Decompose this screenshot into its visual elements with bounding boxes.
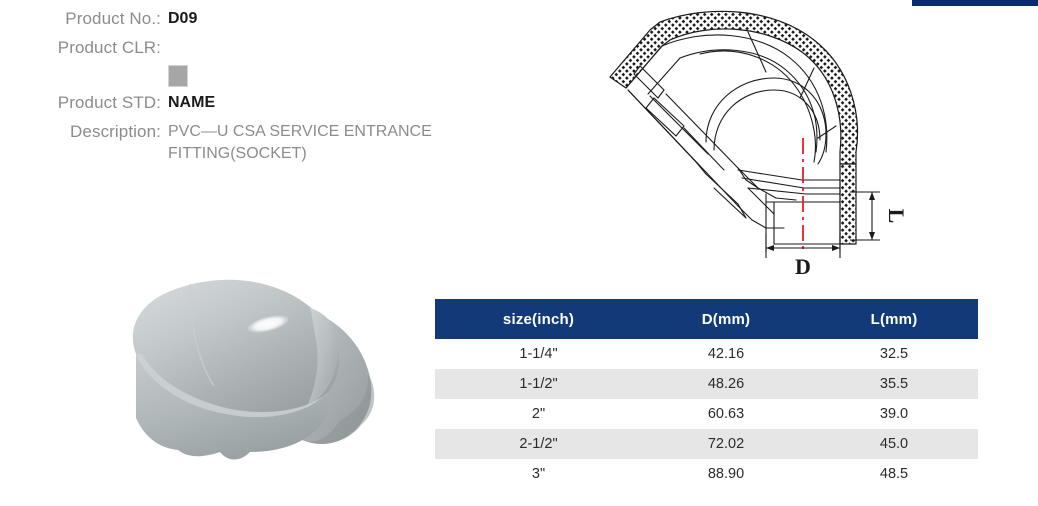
spec-row-product-std: Product STD: NAME	[0, 90, 470, 116]
dimensions-table-body: 1-1/4" 42.16 32.5 1-1/2" 48.26 35.5 2" 6…	[435, 339, 978, 489]
cell-size: 1-1/4"	[435, 339, 642, 369]
dimension-d-label: D	[795, 254, 811, 279]
table-row: 1-1/2" 48.26 35.5	[435, 369, 978, 399]
spec-label-product-std: Product STD:	[0, 90, 168, 116]
color-swatch	[168, 65, 188, 87]
cell-size: 1-1/2"	[435, 369, 642, 399]
cell-l: 39.0	[810, 399, 978, 429]
table-header-row: size(inch) D(mm) L(mm)	[435, 299, 978, 339]
dimension-l-label: L	[884, 209, 909, 224]
cell-d: 60.63	[642, 399, 810, 429]
cell-d: 72.02	[642, 429, 810, 459]
spec-label-product-clr: Product CLR:	[0, 35, 168, 61]
spec-label-product-no: Product No.:	[0, 6, 168, 32]
spec-value-product-clr	[168, 35, 470, 87]
cell-d: 48.26	[642, 369, 810, 399]
spec-row-product-clr: Product CLR:	[0, 35, 470, 87]
dimensions-table: size(inch) D(mm) L(mm) 1-1/4" 42.16 32.5…	[435, 299, 978, 489]
spec-label-description: Description:	[0, 119, 168, 145]
cell-size: 2-1/2"	[435, 429, 642, 459]
product-photo	[40, 262, 430, 506]
cell-size: 3"	[435, 459, 642, 489]
spec-value-description: PVC—U CSA SERVICE ENTRANCE FITTING(SOCKE…	[168, 119, 470, 165]
drawing-cut-wall	[610, 11, 857, 244]
cell-size: 2"	[435, 399, 642, 429]
column-header-size: size(inch)	[435, 299, 642, 339]
spec-value-product-std: NAME	[168, 90, 470, 116]
spec-value-product-no: D09	[168, 6, 470, 32]
table-row: 3" 88.90 48.5	[435, 459, 978, 489]
dimensions-table-head: size(inch) D(mm) L(mm)	[435, 299, 978, 339]
product-spec-block: Product No.: D09 Product CLR: Product ST…	[0, 6, 470, 168]
cell-l: 32.5	[810, 339, 978, 369]
spec-row-description: Description: PVC—U CSA SERVICE ENTRANCE …	[0, 119, 470, 165]
table-row: 1-1/4" 42.16 32.5	[435, 339, 978, 369]
top-accent-bar	[912, 0, 1038, 6]
cell-l: 45.0	[810, 429, 978, 459]
column-header-d: D(mm)	[642, 299, 810, 339]
column-header-l: L(mm)	[810, 299, 978, 339]
technical-drawing: D L	[588, 2, 928, 282]
table-row: 2" 60.63 39.0	[435, 399, 978, 429]
cell-l: 48.5	[810, 459, 978, 489]
table-row: 2-1/2" 72.02 45.0	[435, 429, 978, 459]
cell-l: 35.5	[810, 369, 978, 399]
cell-d: 42.16	[642, 339, 810, 369]
cell-d: 88.90	[642, 459, 810, 489]
spec-row-product-no: Product No.: D09	[0, 6, 470, 32]
